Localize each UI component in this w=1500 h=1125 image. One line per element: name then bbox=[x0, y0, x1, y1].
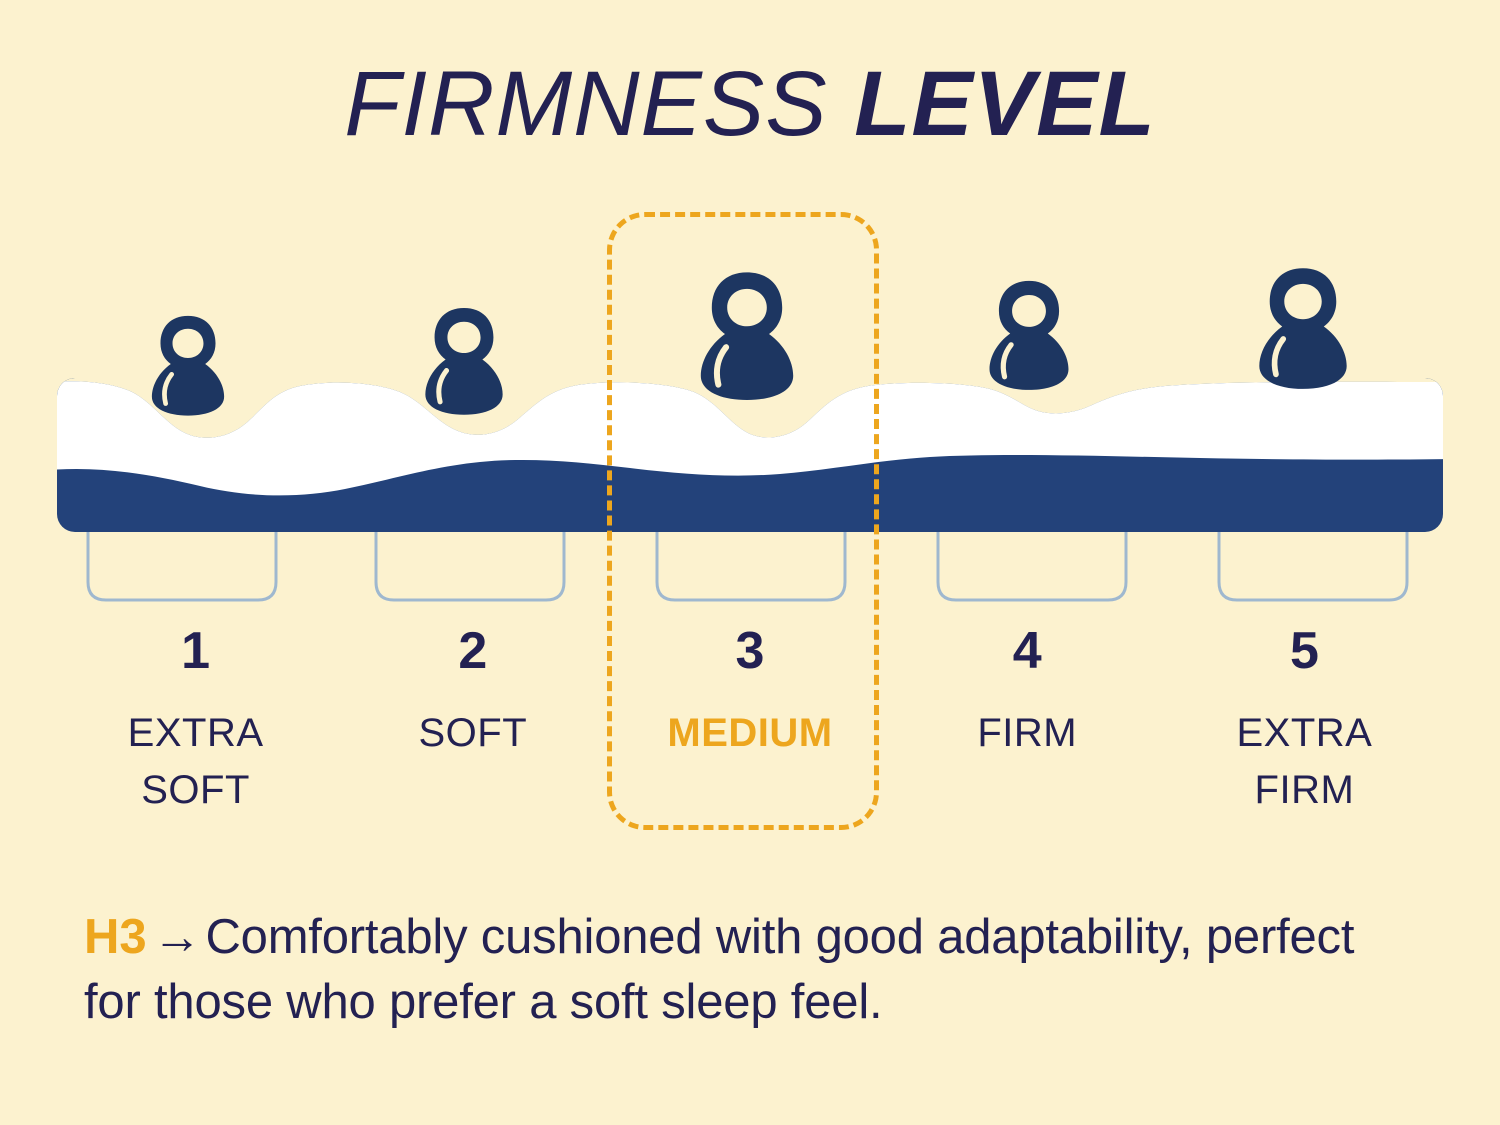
title-word-level: LEVEL bbox=[854, 53, 1155, 155]
scale-label-5: EXTRA FIRM bbox=[1189, 705, 1419, 819]
scale-number-2: 2 bbox=[458, 625, 487, 677]
scale-item-3[interactable]: 3 MEDIUM bbox=[611, 625, 888, 840]
firmness-scale: 1 EXTRA SOFT 2 SOFT 3 MEDIUM 4 FIRM 5 EX… bbox=[57, 625, 1443, 840]
kettlebell-icon-5 bbox=[1259, 268, 1346, 389]
description-body: Comfortably cushioned with good adaptabi… bbox=[84, 910, 1354, 1029]
firmness-tag-badge: H3 bbox=[84, 910, 147, 964]
firmness-level-infographic: FIRMNESS LEVEL bbox=[0, 0, 1500, 1125]
kettlebell-icon-2 bbox=[425, 308, 502, 415]
description-text: H3→Comfortably cushioned with good adapt… bbox=[84, 905, 1414, 1034]
scale-item-1[interactable]: 1 EXTRA SOFT bbox=[57, 625, 334, 840]
page-title: FIRMNESS LEVEL bbox=[0, 52, 1500, 157]
scale-number-3: 3 bbox=[736, 625, 765, 677]
scale-number-1: 1 bbox=[181, 625, 210, 677]
scale-number-4: 4 bbox=[1013, 625, 1042, 677]
kettlebell-icon-4 bbox=[990, 281, 1069, 390]
scale-item-4[interactable]: 4 FIRM bbox=[889, 625, 1166, 840]
scale-label-2: SOFT bbox=[418, 705, 527, 762]
scale-label-1: EXTRA SOFT bbox=[81, 705, 311, 819]
scale-label-3: MEDIUM bbox=[667, 705, 832, 762]
scale-item-5[interactable]: 5 EXTRA FIRM bbox=[1166, 625, 1443, 840]
scale-number-5: 5 bbox=[1290, 625, 1319, 677]
kettlebell-icon-1 bbox=[152, 316, 224, 416]
title-word-firmness: FIRMNESS bbox=[344, 53, 827, 155]
scale-label-4: FIRM bbox=[977, 705, 1077, 762]
scale-item-2[interactable]: 2 SOFT bbox=[334, 625, 611, 840]
arrow-icon: → bbox=[147, 910, 206, 964]
